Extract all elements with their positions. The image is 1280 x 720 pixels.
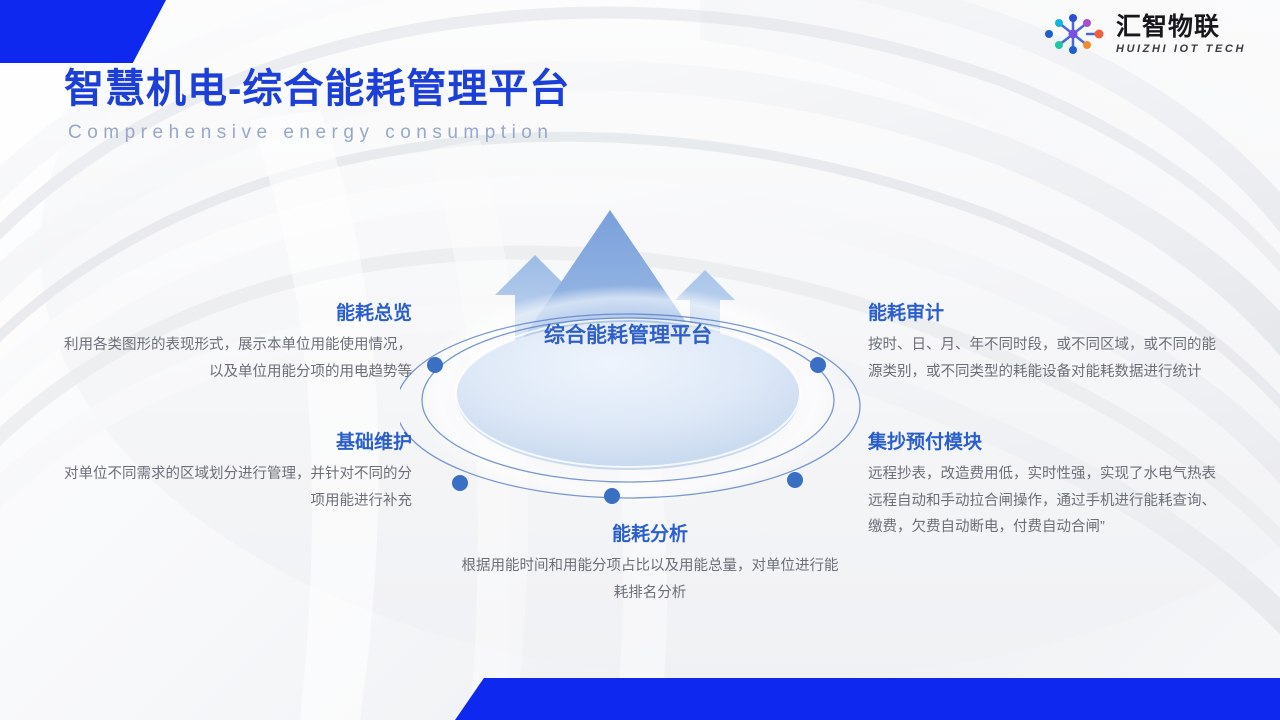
- molecule-network-icon: [1044, 12, 1106, 56]
- orbit-dot: [427, 357, 443, 373]
- orbit-dot: [810, 357, 826, 373]
- block-energy-analysis: 能耗分析 根据用能时间和用能分项占比以及用能总量，对单位进行能耗排名分析: [455, 524, 845, 606]
- bottom-right-accent-bar: [455, 678, 1280, 720]
- block-body: 根据用能时间和用能分项占比以及用能总量，对单位进行能耗排名分析: [455, 553, 845, 607]
- block-heading: 能耗审计: [868, 303, 1228, 326]
- block-heading: 能耗总览: [62, 303, 412, 326]
- title-block: 智慧机电-综合能耗管理平台 Comprehensive energy consu…: [64, 66, 570, 144]
- block-heading: 基础维护: [62, 432, 412, 455]
- brand-logo[interactable]: 汇智物联 HUIZHI IOT TECH: [1044, 12, 1246, 56]
- page-subtitle: Comprehensive energy consumption: [68, 122, 570, 144]
- central-platform-graphic: 综合能耗管理平台: [400, 200, 900, 530]
- block-basic-maintenance: 基础维护 对单位不同需求的区域划分进行管理，并针对不同的分项用能进行补充: [62, 432, 412, 514]
- orbit-dot: [452, 475, 468, 491]
- platform-label: 综合能耗管理平台: [544, 323, 712, 347]
- block-body: 对单位不同需求的区域划分进行管理，并针对不同的分项用能进行补充: [62, 461, 412, 515]
- block-body: 利用各类图形的表现形式，展示本单位用能使用情况，以及单位用能分项的用电趋势等: [62, 332, 412, 386]
- logo-name-cn: 汇智物联: [1116, 14, 1246, 39]
- slide-root: 智慧机电-综合能耗管理平台 Comprehensive energy consu…: [0, 0, 1280, 720]
- block-body: 远程抄表，改造费用低，实时性强，实现了水电气热表远程自动和手动拉合闸操作，通过手…: [868, 461, 1228, 541]
- orbit-dot: [787, 472, 803, 488]
- logo-text: 汇智物联 HUIZHI IOT TECH: [1116, 14, 1246, 55]
- logo-name-en: HUIZHI IOT TECH: [1116, 44, 1246, 55]
- block-energy-overview: 能耗总览 利用各类图形的表现形式，展示本单位用能使用情况，以及单位用能分项的用电…: [62, 303, 412, 385]
- block-heading: 能耗分析: [455, 524, 845, 547]
- block-heading: 集抄预付模块: [868, 432, 1228, 455]
- block-prepay-module: 集抄预付模块 远程抄表，改造费用低，实时性强，实现了水电气热表远程自动和手动拉合…: [868, 432, 1228, 541]
- page-title: 智慧机电-综合能耗管理平台: [64, 66, 570, 112]
- orbit-dot: [604, 488, 620, 504]
- block-energy-audit: 能耗审计 按时、日、月、年不同时段，或不同区域，或不同的能源类别，或不同类型的耗…: [868, 303, 1228, 385]
- block-body: 按时、日、月、年不同时段，或不同区域，或不同的能源类别，或不同类型的耗能设备对能…: [868, 332, 1228, 386]
